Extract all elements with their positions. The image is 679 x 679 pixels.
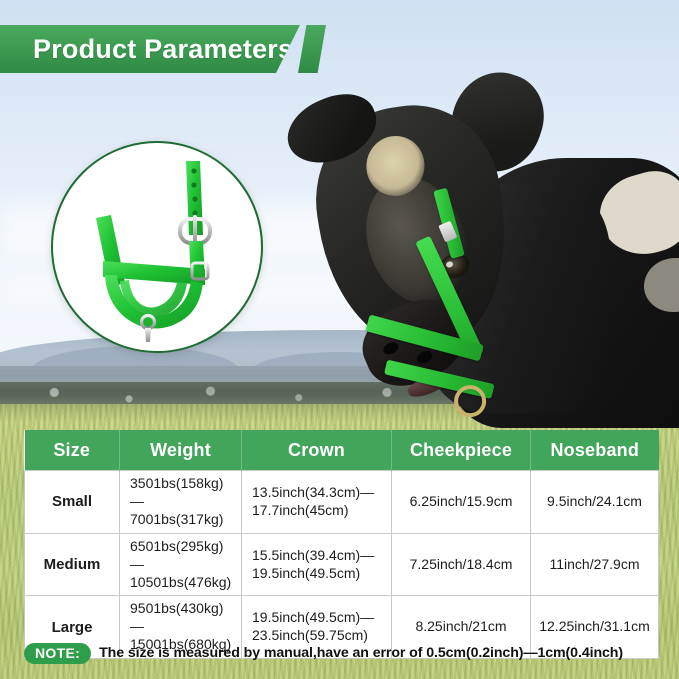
column-header-noseband: Noseband	[531, 430, 659, 471]
cell-size: Small	[25, 471, 120, 534]
cell-noseband: 11inch/27.9cm	[531, 533, 659, 596]
column-header-cheekpiece: Cheekpiece	[392, 430, 531, 471]
header-banner: Product Parameters	[0, 25, 400, 73]
page-title: Product Parameters	[0, 34, 293, 65]
product-parameters-page: Product Parameters Size Weight Crown Che…	[0, 0, 679, 679]
banner-accent-stripe	[298, 25, 326, 73]
cell-cheekpiece: 7.25inch/18.4cm	[392, 533, 531, 596]
column-header-size: Size	[25, 430, 120, 471]
parameters-table: Size Weight Crown Cheekpiece Noseband Sm…	[24, 430, 659, 659]
table-row: Small 3501bs(158kg)— 7001bs(317kg) 13.5i…	[25, 471, 659, 534]
cell-crown: 13.5inch(34.3cm)— 17.7inch(45cm)	[242, 471, 392, 534]
note-bar: NOTE: The size is measured by manual,hav…	[24, 638, 658, 668]
product-image-circle	[51, 141, 263, 353]
cell-size: Medium	[25, 533, 120, 596]
banner-shape: Product Parameters	[0, 25, 300, 73]
note-label-badge: NOTE:	[24, 643, 91, 664]
cattle-halter-illustration	[53, 143, 257, 347]
column-header-weight: Weight	[120, 430, 242, 471]
cell-weight: 6501bs(295kg)— 10501bs(476kg)	[120, 533, 242, 596]
cell-weight: 3501bs(158kg)— 7001bs(317kg)	[120, 471, 242, 534]
cow-photo	[300, 78, 679, 414]
cell-crown: 15.5inch(39.4cm)— 19.5inch(49.5cm)	[242, 533, 392, 596]
column-header-crown: Crown	[242, 430, 392, 471]
cell-cheekpiece: 6.25inch/15.9cm	[392, 471, 531, 534]
parameters-table-container: Size Weight Crown Cheekpiece Noseband Sm…	[24, 430, 658, 659]
cell-noseband: 9.5inch/24.1cm	[531, 471, 659, 534]
table-row: Medium 6501bs(295kg)— 10501bs(476kg) 15.…	[25, 533, 659, 596]
note-text: The size is measured by manual,have an e…	[99, 645, 623, 661]
table-header-row: Size Weight Crown Cheekpiece Noseband	[25, 430, 659, 471]
